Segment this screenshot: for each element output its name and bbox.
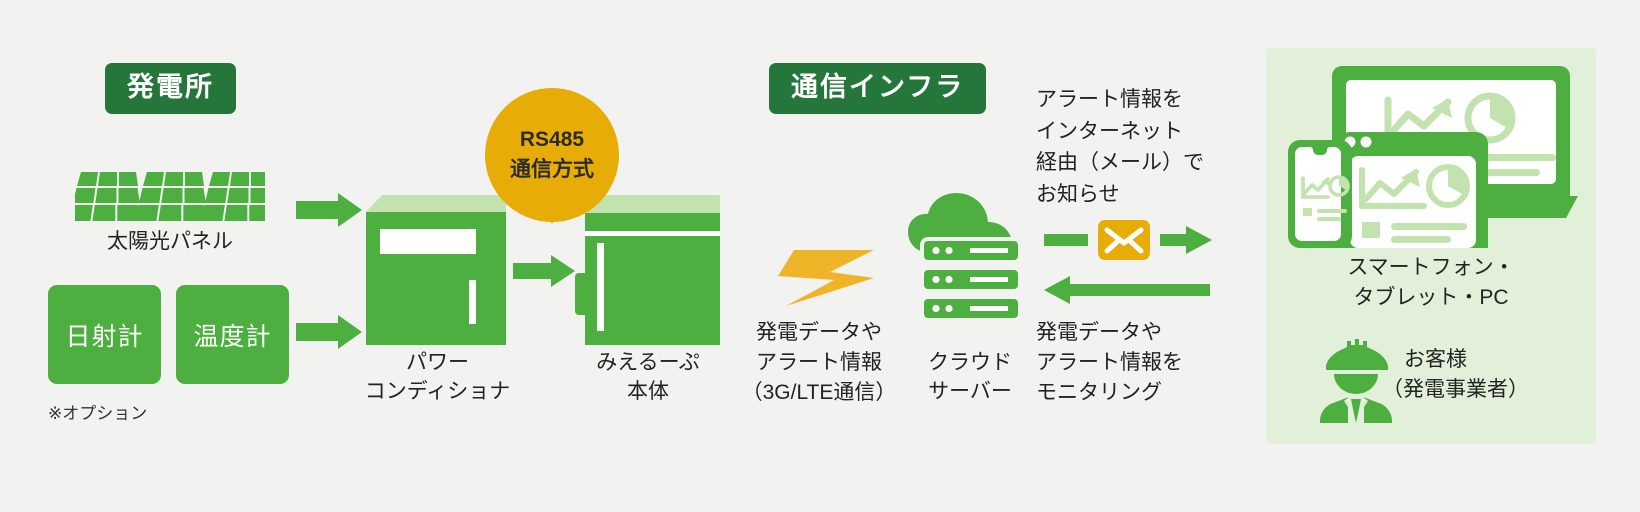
monitoring-line1: 発電データや bbox=[1036, 318, 1183, 348]
customer-line2: （発電事業者） bbox=[1382, 375, 1529, 405]
client-devices-line1: スマートフォン・ bbox=[1266, 253, 1596, 283]
power-conditioner-device bbox=[366, 185, 506, 345]
arrow-monitoring-left bbox=[1044, 274, 1210, 306]
badge-comm-infra: 通信インフラ bbox=[769, 63, 986, 114]
power-conditioner-label: パワー コンディショナ bbox=[345, 348, 530, 407]
arrow-sensors-to-pcs bbox=[296, 315, 362, 349]
alert-note: アラート情報を インターネット 経由（メール）で お知らせ bbox=[1036, 84, 1204, 210]
alert-note-line4: お知らせ bbox=[1036, 179, 1204, 211]
rs485-line1: RS485 bbox=[520, 125, 584, 155]
customer-line1: お客様 bbox=[1404, 345, 1529, 375]
thermometer-box: 温度計 bbox=[176, 285, 289, 384]
mieruupu-label-line2: 本体 bbox=[568, 377, 728, 406]
monitoring-line3: モニタリング bbox=[1036, 378, 1183, 408]
rs485-bubble: RS485 通信方式 bbox=[485, 88, 619, 222]
cloud-server-icon bbox=[908, 193, 1026, 318]
client-customer-label: お客様 （発電事業者） bbox=[1404, 345, 1529, 405]
uplink-line1: 発電データや bbox=[728, 318, 910, 348]
mieruupu-device bbox=[575, 185, 720, 345]
cloud-label-line2: サーバー bbox=[900, 377, 1040, 406]
diagram-canvas: 発電所 bbox=[0, 0, 1640, 512]
cloud-label-line1: クラウド bbox=[900, 348, 1040, 377]
alert-note-line1: アラート情報を bbox=[1036, 84, 1204, 116]
pyranometer-box: 日射計 bbox=[48, 285, 161, 384]
monitoring-note: 発電データや アラート情報を モニタリング bbox=[1036, 318, 1183, 407]
alert-note-line2: インターネット bbox=[1036, 116, 1204, 148]
pcs-label-line1: パワー bbox=[345, 348, 530, 377]
arrow-panels-to-pcs bbox=[296, 193, 362, 227]
solar-panel-label: 太陽光パネル bbox=[60, 228, 280, 256]
arrow-pcs-to-mieruupu bbox=[513, 255, 575, 287]
cloud-server-label: クラウド サーバー bbox=[900, 348, 1040, 407]
uplink-line2: アラート情報 bbox=[728, 348, 910, 378]
monitoring-line2: アラート情報を bbox=[1036, 348, 1183, 378]
alert-note-line3: 経由（メール）で bbox=[1036, 147, 1204, 179]
uplink-note: 発電データや アラート情報 （3G/LTE通信） bbox=[728, 318, 910, 407]
client-devices-illustration bbox=[1288, 66, 1578, 248]
option-note: ※オプション bbox=[48, 399, 147, 424]
uplink-line3: （3G/LTE通信） bbox=[728, 378, 910, 408]
mieruupu-label: みえるーぷ 本体 bbox=[568, 348, 728, 407]
client-devices-line2: タブレット・PC bbox=[1266, 283, 1596, 313]
pcs-label-line2: コンディショナ bbox=[345, 377, 530, 406]
envelope-icon bbox=[1098, 220, 1150, 260]
solar-panel-icon bbox=[75, 172, 265, 224]
mieruupu-label-line1: みえるーぷ bbox=[568, 348, 728, 377]
rs485-line2: 通信方式 bbox=[510, 155, 594, 185]
badge-power-plant: 発電所 bbox=[105, 63, 236, 114]
client-devices-label: スマートフォン・ タブレット・PC bbox=[1266, 253, 1596, 313]
lightning-bolt-icon bbox=[778, 250, 874, 306]
